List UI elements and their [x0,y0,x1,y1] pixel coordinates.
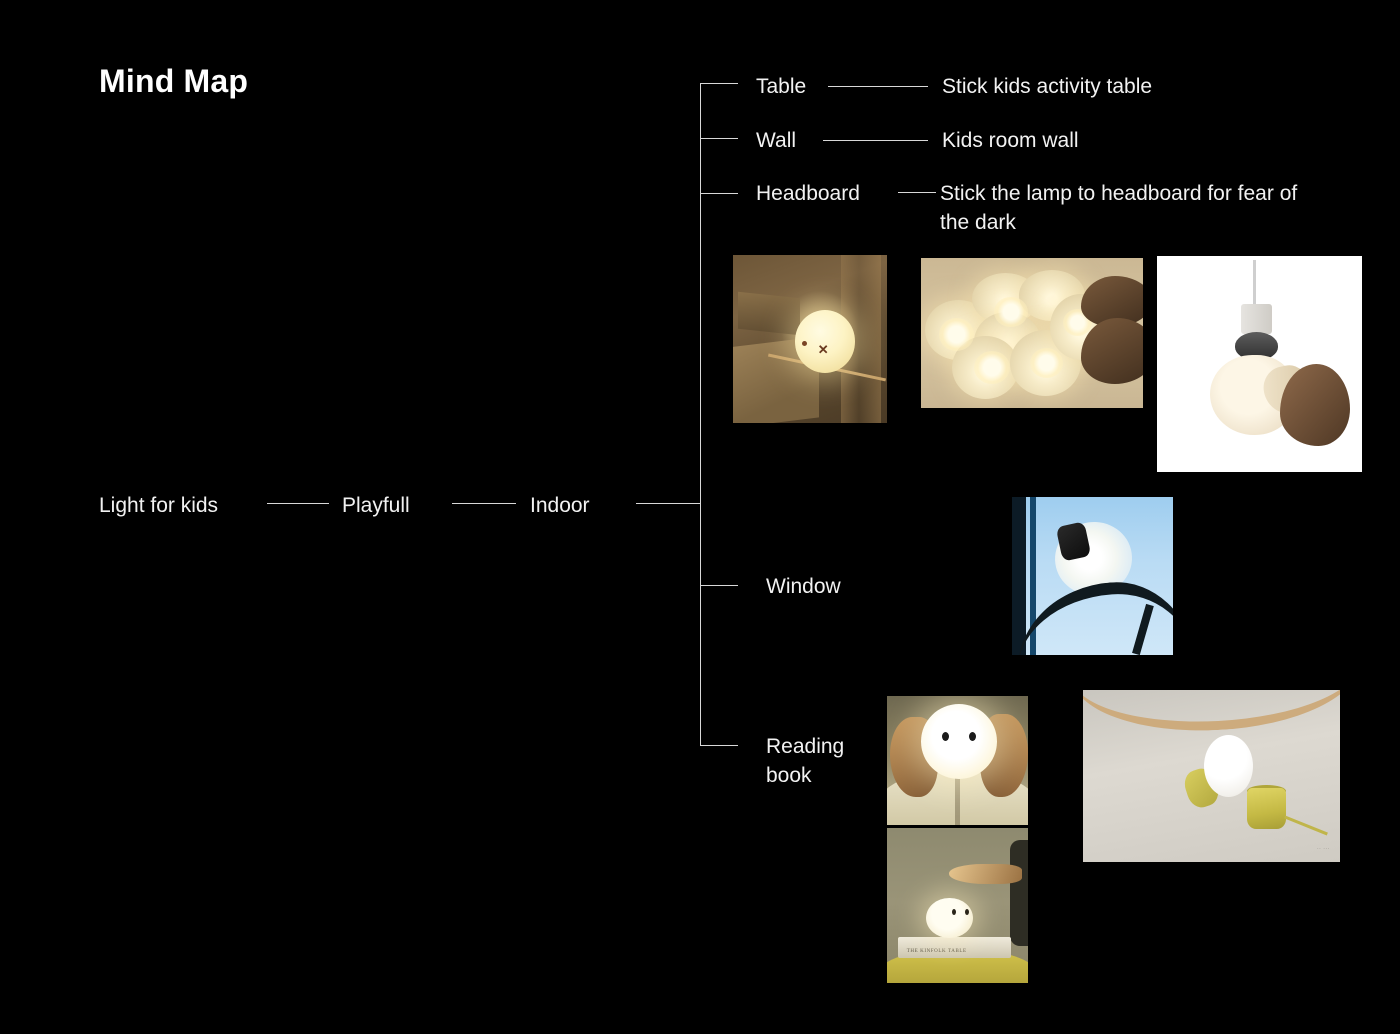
glow-3 [974,351,1010,384]
detail-table[interactable]: Stick kids activity table [942,72,1152,101]
detail-headboard[interactable]: Stick the lamp to headboard for fear of … [940,179,1310,237]
mindmap-canvas: Mind Map Light for kids Playfull Indoor … [0,0,1400,1034]
branch-stub-window [700,585,738,586]
lamp-socket [1241,304,1272,334]
branch-stub-reading-book [700,745,738,746]
node-indoor[interactable]: Indoor [530,491,590,520]
glow-4 [1030,348,1063,378]
lamp-power-cord [1285,816,1329,836]
bulb-lamp-table-photo[interactable]: ·· ··· [1083,690,1340,862]
connector-headboard-to-detail [898,192,936,193]
connector-indoor-to-trunk [636,503,701,504]
branch-stub-table [700,83,738,84]
bulb-x-mark: ✕ [818,344,829,355]
window-lamp-photo[interactable] [1012,497,1173,655]
glow-1 [939,318,975,351]
lamp-on-wall-photo[interactable]: ✕ [733,255,887,423]
page-title: Mind Map [99,63,248,100]
bulb-eye-dot [802,341,807,346]
node-window[interactable]: Window [766,572,841,601]
detail-wall[interactable]: Kids room wall [942,126,1079,155]
lamp-cord [1253,260,1256,308]
node-light-for-kids[interactable]: Light for kids [99,491,218,520]
pendant-lamp-photo-inner [1157,256,1362,472]
lamp-on-books-photo-inner: THE KINFOLK TABLE [887,828,1028,983]
window-lamp-photo-inner [1012,497,1173,655]
photo-watermark: ·· ··· [1317,846,1330,852]
reading-lamp-book-photo[interactable] [887,696,1028,825]
face-lamp-shape [926,898,973,938]
hand-pulling-shade [1280,364,1350,446]
glowing-shells-photo[interactable] [921,258,1143,408]
face-lamp-eye-left [952,909,956,915]
glow-2 [994,297,1027,327]
lamp-white-sphere [1204,735,1253,797]
shelf-shape [738,292,800,335]
branch-stub-wall [700,138,738,139]
glowing-shells-photo-inner [921,258,1143,408]
reading-lamp-book-photo-inner [887,696,1028,825]
node-wall[interactable]: Wall [756,126,796,155]
lamp-eye-right [969,732,976,741]
branch-stub-headboard [700,193,738,194]
glowing-face-lamp [921,704,997,779]
bulb-lamp-table-photo-inner: ·· ··· [1083,690,1340,862]
trunk-vertical-line [700,83,701,746]
connector-wall-to-detail [823,140,928,141]
book-title-text: THE KINFOLK TABLE [907,949,967,954]
dark-chair-shape [1010,840,1028,945]
lamp-on-wall-photo-inner: ✕ [733,255,887,423]
connector-root-to-playfull [267,503,329,504]
book-stack-shape [898,937,1011,959]
node-reading-book[interactable]: Reading book [766,732,876,790]
face-lamp-eye-right [965,909,969,915]
hand-above-lamp [949,864,1022,884]
window-frame-left [1012,497,1026,655]
node-playfull[interactable]: Playfull [342,491,410,520]
connector-table-to-detail [828,86,928,87]
lamp-on-books-photo[interactable]: THE KINFOLK TABLE [887,828,1028,983]
connector-playfull-to-indoor [452,503,516,504]
pendant-lamp-photo[interactable] [1157,256,1362,472]
book-spine [955,773,961,825]
wooden-table-rim [1083,690,1340,737]
node-table[interactable]: Table [756,72,806,101]
yellow-cup-holder [1247,788,1286,829]
node-headboard[interactable]: Headboard [756,179,860,208]
